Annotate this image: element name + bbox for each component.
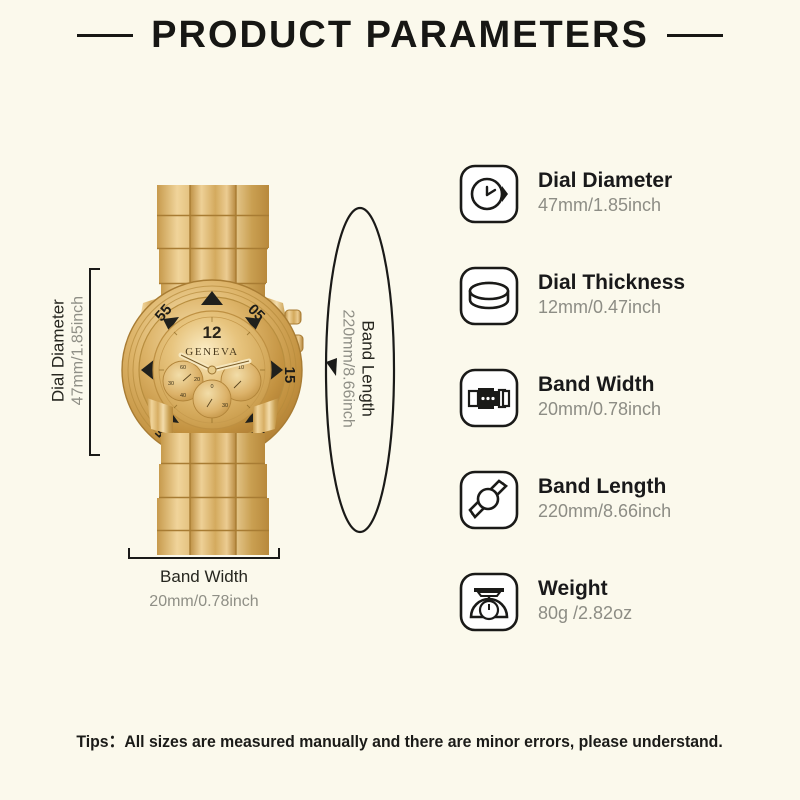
dimension-value: 220mm/8.66inch	[337, 253, 357, 485]
dimension-label: Band Length	[357, 253, 378, 485]
spec-text: Dial Diameter 47mm/1.85inch	[538, 169, 672, 218]
dimension-value: 47mm/1.85inch	[69, 265, 89, 437]
kitchen-scale-icon	[458, 571, 520, 633]
dimension-bracket-vertical	[89, 268, 100, 456]
spec-text: Weight 80g /2.82oz	[538, 577, 632, 626]
spec-text: Band Length 220mm/8.66inch	[538, 475, 671, 524]
watch-strap-icon	[458, 469, 520, 531]
watch-product-illustration: 05 15 25 35 45 55	[95, 185, 330, 555]
page-header: PRODUCT PARAMETERS	[0, 14, 800, 57]
dimension-text: Band Width 20mm/0.78inch	[128, 559, 280, 613]
spec-row-band-length: Band Length 220mm/8.66inch	[458, 449, 788, 551]
title-rule-right	[667, 34, 723, 37]
dimension-label: Dial Diameter	[47, 265, 68, 437]
spec-row-dial-thickness: Dial Thickness 12mm/0.47inch	[458, 245, 788, 347]
watch-dial-icon	[458, 163, 520, 225]
svg-text:60: 60	[180, 365, 186, 371]
spec-label: Dial Diameter	[538, 169, 672, 194]
dimension-label: Band Width	[128, 565, 280, 590]
svg-text:40: 40	[180, 393, 186, 399]
dimension-bracket-horizontal	[128, 548, 280, 559]
spec-label: Dial Thickness	[538, 271, 685, 296]
spec-row-weight: Weight 80g /2.82oz	[458, 551, 788, 653]
footer-tips: Tips：All sizes are measured manually and…	[0, 727, 800, 752]
dimension-text: Dial Diameter 47mm/1.85inch	[47, 265, 88, 437]
svg-text:30: 30	[168, 381, 174, 387]
spec-value: 220mm/8.66inch	[538, 500, 671, 523]
svg-text:15: 15	[281, 367, 298, 384]
title-rule-left	[77, 34, 133, 37]
dimension-value: 20mm/0.78inch	[128, 590, 280, 613]
spec-value: 12mm/0.47inch	[538, 296, 685, 319]
spec-value: 20mm/0.78inch	[538, 398, 661, 421]
spec-label: Weight	[538, 577, 632, 602]
spec-text: Dial Thickness 12mm/0.47inch	[538, 271, 685, 320]
page-title: PRODUCT PARAMETERS	[151, 14, 649, 57]
dial-diameter-dimension: Dial Diameter 47mm/1.85inch	[36, 268, 100, 456]
spec-label: Band Width	[538, 373, 661, 398]
watch-buckle-icon	[458, 367, 520, 429]
disc-thickness-icon	[458, 265, 520, 327]
spec-value: 47mm/1.85inch	[538, 194, 672, 217]
spec-value: 80g /2.82oz	[538, 602, 632, 625]
svg-text:20: 20	[194, 377, 200, 383]
dial-brand-text: GENEVA	[185, 346, 238, 358]
svg-text:12: 12	[203, 323, 222, 342]
spec-row-band-width: Band Width 20mm/0.78inch	[458, 347, 788, 449]
tips-text: Tips：All sizes are measured manually and…	[77, 727, 723, 752]
dimension-text: Band Length 220mm/8.66inch	[337, 253, 378, 485]
spec-text: Band Width 20mm/0.78inch	[538, 373, 661, 422]
svg-text:0: 0	[210, 384, 213, 390]
band-width-dimension: Band Width 20mm/0.78inch	[128, 548, 280, 613]
spec-row-dial-diameter: Dial Diameter 47mm/1.85inch	[458, 143, 788, 245]
specification-list: Dial Diameter 47mm/1.85inch Dial Thickne…	[458, 143, 788, 653]
product-image-figure: 05 15 25 35 45 55	[95, 185, 330, 565]
spec-label: Band Length	[538, 475, 671, 500]
band-length-dimension: Band Length 220mm/8.66inch	[312, 200, 408, 540]
svg-text:30: 30	[222, 403, 228, 409]
